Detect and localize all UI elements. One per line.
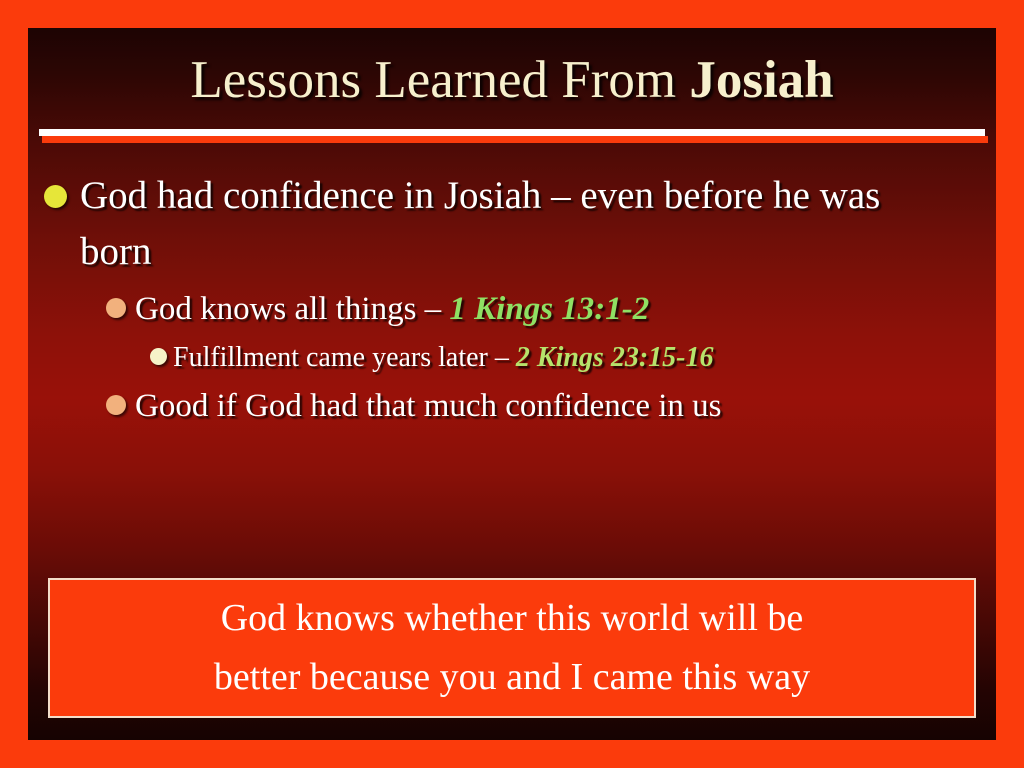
title-divider — [39, 129, 985, 136]
callout-line-1: God knows whether this world will be — [221, 589, 804, 648]
list-item-text: God knows all things – — [135, 291, 449, 327]
bullet-dot-icon — [44, 185, 67, 208]
list-item: God had confidence in Josiah – even befo… — [44, 168, 996, 280]
scripture-reference: 2 Kings 23:15-16 — [516, 342, 714, 373]
title-zone: Lessons Learned From Josiah — [28, 28, 996, 156]
content-list: God had confidence in Josiah – even befo… — [28, 168, 996, 433]
list-item: Fulfillment came years later – 2 Kings 2… — [150, 336, 996, 379]
page-title-emphasis: Josiah — [689, 51, 833, 109]
list-item-label: Good if God had that much confidence in … — [135, 381, 996, 431]
title-divider-shadow — [42, 136, 988, 143]
bullet-dot-icon — [106, 298, 126, 318]
list-item-text: God had confidence in Josiah – even befo… — [80, 174, 880, 273]
list-item-label: God had confidence in Josiah – even befo… — [80, 168, 900, 280]
callout-box: God knows whether this world will be bet… — [48, 578, 976, 718]
list-item: Good if God had that much confidence in … — [106, 381, 996, 431]
slide-frame: Lessons Learned From Josiah God had conf… — [0, 0, 1024, 768]
list-item-text: Good if God had that much confidence in … — [135, 388, 722, 424]
scripture-reference: 1 Kings 13:1-2 — [449, 291, 649, 327]
list-item: God knows all things – 1 Kings 13:1-2 — [106, 284, 996, 334]
slide-body: Lessons Learned From Josiah God had conf… — [28, 28, 996, 740]
page-title: Lessons Learned From Josiah — [28, 48, 996, 112]
list-item-label: Fulfillment came years later – 2 Kings 2… — [173, 336, 996, 379]
list-item-text: Fulfillment came years later – — [173, 342, 516, 373]
page-title-main: Lessons Learned From — [190, 51, 689, 109]
list-item-label: God knows all things – 1 Kings 13:1-2 — [135, 284, 996, 334]
bullet-dot-icon — [106, 395, 126, 415]
callout-line-2: better because you and I came this way — [214, 648, 810, 707]
bullet-dot-icon — [150, 348, 167, 365]
